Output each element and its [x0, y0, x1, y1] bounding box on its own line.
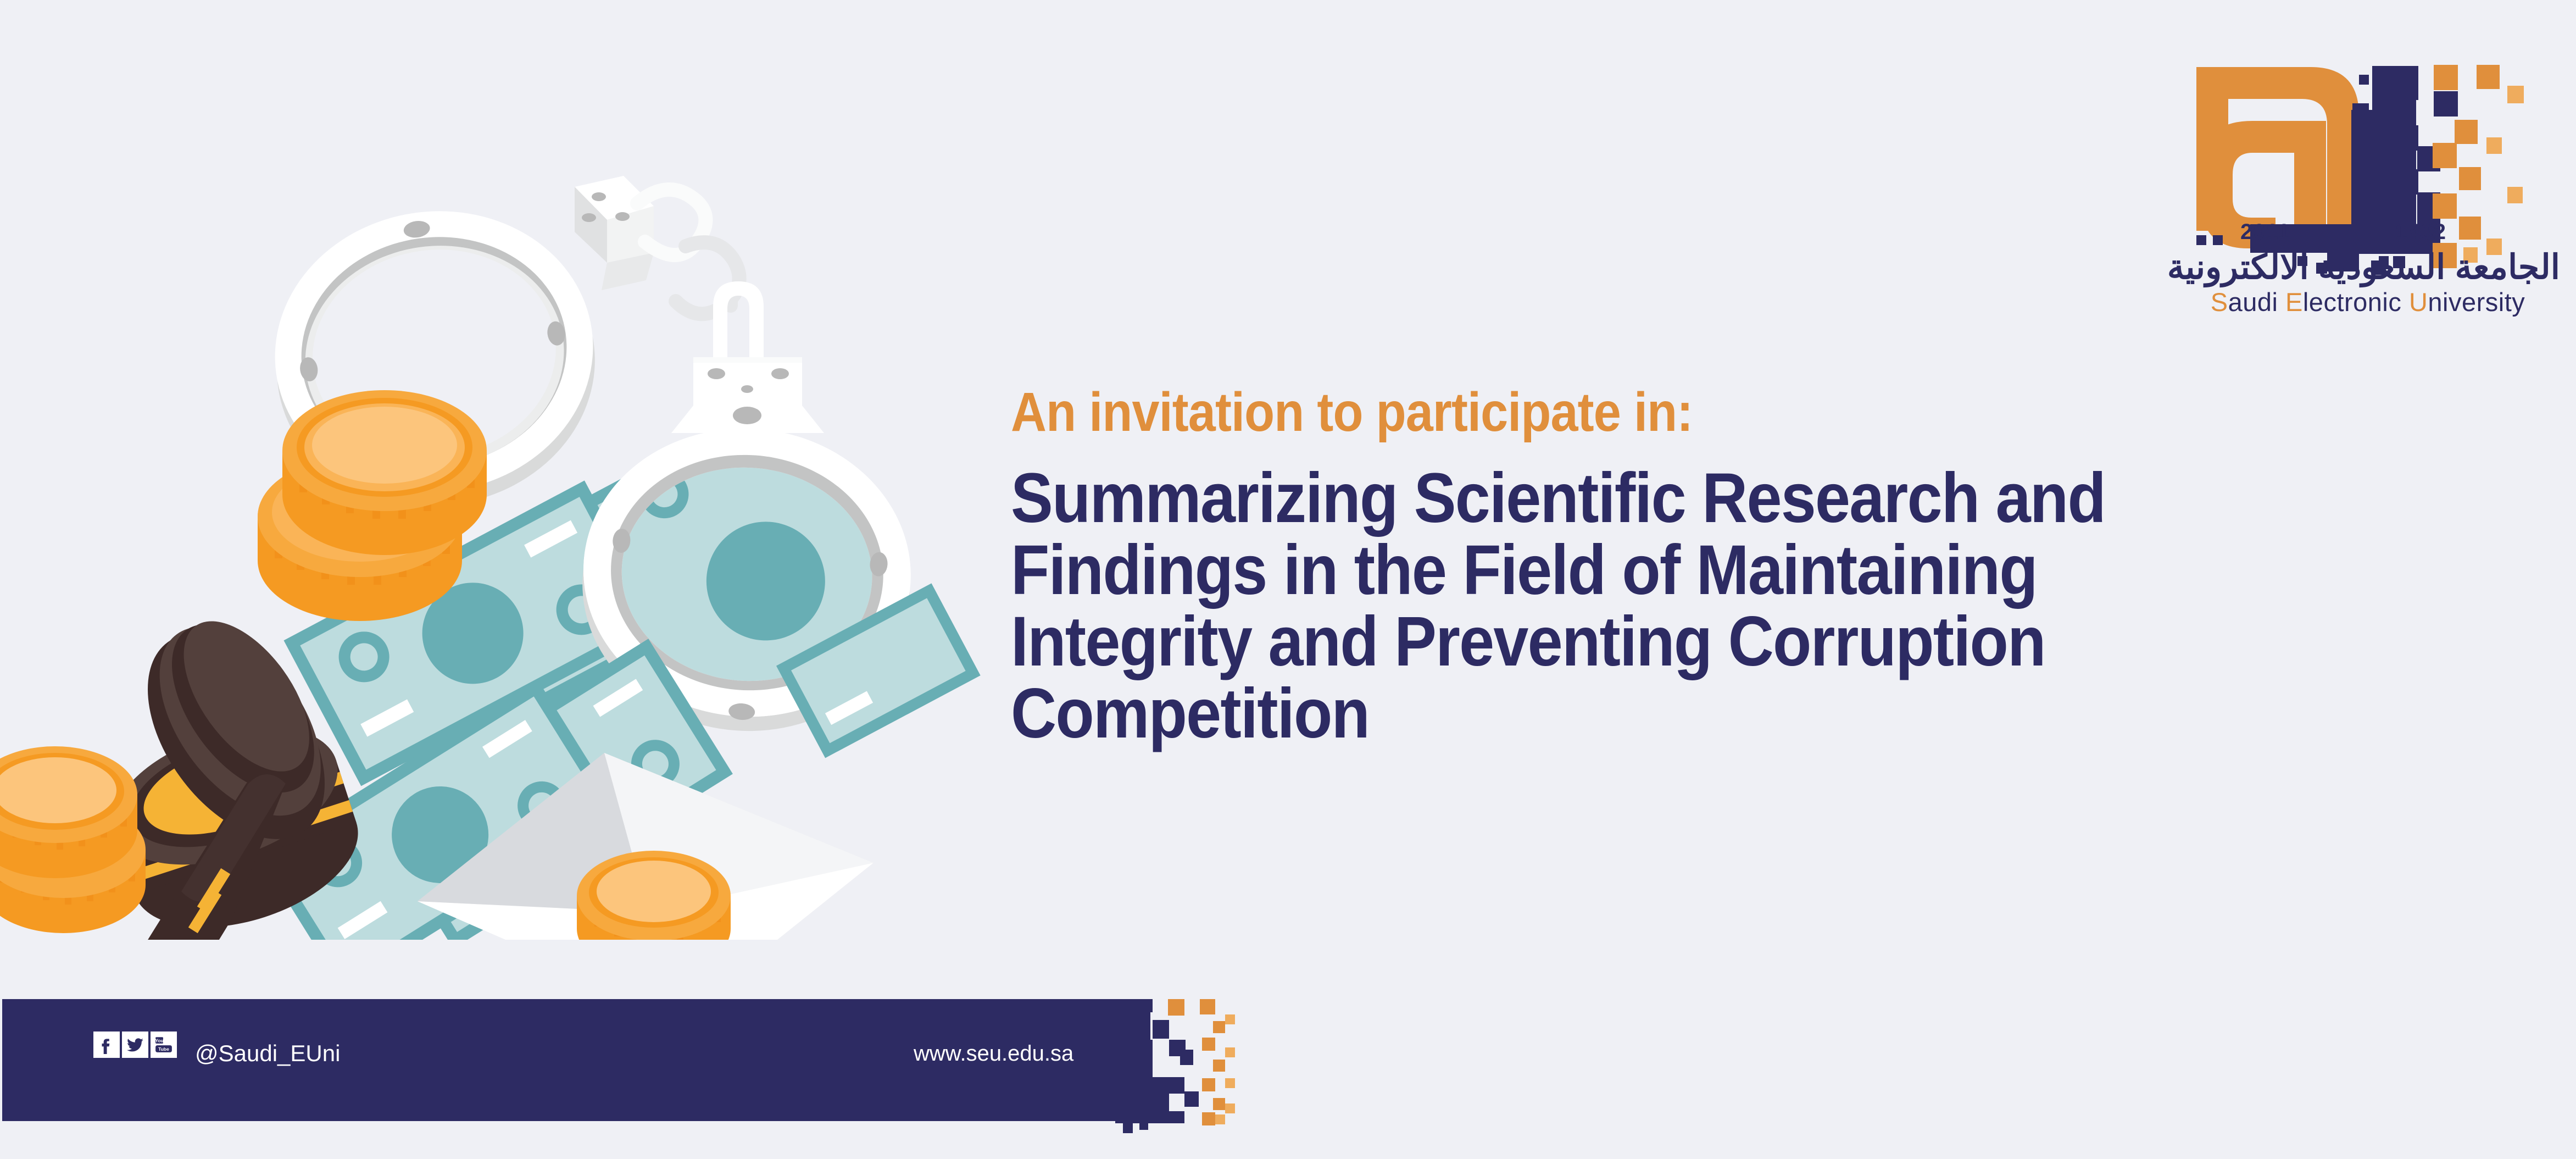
university-logo: 2011 1432 الجامعة السعودية الالكترونية S…: [2176, 33, 2560, 335]
competition-title: Summarizing Scientific Research and Find…: [1011, 463, 2534, 750]
social-links: You Tube: [93, 1032, 177, 1058]
invitation-line: An invitation to participate in:: [1011, 385, 2395, 440]
svg-text:Tube: Tube: [158, 1046, 169, 1052]
logo-year-hijri: 1432: [2395, 220, 2446, 245]
website-url[interactable]: www.seu.edu.sa: [914, 1041, 1073, 1066]
youtube-icon: You Tube: [154, 1035, 173, 1054]
coin-stack-lower-right: [577, 851, 731, 940]
youtube-link[interactable]: You Tube: [151, 1032, 177, 1058]
handcuff-shackle: [713, 281, 764, 359]
title-line-4: Competition: [1011, 678, 2534, 750]
footer-pixel-dissolve: [1115, 989, 1297, 1149]
facebook-link[interactable]: [93, 1032, 120, 1058]
anti-corruption-illustration: [0, 115, 1000, 940]
logo-letter-e: E: [2285, 287, 2303, 317]
logo-word-lectronic: lectronic: [2303, 287, 2409, 317]
twitter-icon: [126, 1035, 144, 1054]
title-line-2: Findings in the Field of Maintaining: [1011, 535, 2534, 607]
cuff-latch-right: [671, 357, 824, 433]
logo-year-gregorian: 2011: [2240, 220, 2290, 245]
title-line-3: Integrity and Preventing Corruption: [1011, 606, 2534, 678]
title-line-1: Summarizing Scientific Research and: [1011, 463, 2534, 535]
twitter-link[interactable]: [122, 1032, 148, 1058]
social-handle: @Saudi_EUni: [195, 1040, 340, 1067]
logo-word-niversity: niversity: [2428, 287, 2525, 317]
logo-english-name: Saudi Electronic University: [2176, 289, 2560, 315]
facebook-icon: [97, 1035, 116, 1054]
headline-block: An invitation to participate in: Summari…: [1011, 385, 2549, 750]
banner-canvas: An invitation to participate in: Summari…: [0, 0, 2576, 1159]
logo-word-audi: audi: [2228, 287, 2285, 317]
svg-text:You: You: [155, 1038, 163, 1043]
logo-letter-s: S: [2211, 287, 2228, 317]
coin-stack-lower-left: [0, 746, 146, 933]
logo-arabic-name: الجامعة السعودية الالكترونية: [2176, 251, 2560, 285]
logo-letter-u: U: [2409, 287, 2428, 317]
